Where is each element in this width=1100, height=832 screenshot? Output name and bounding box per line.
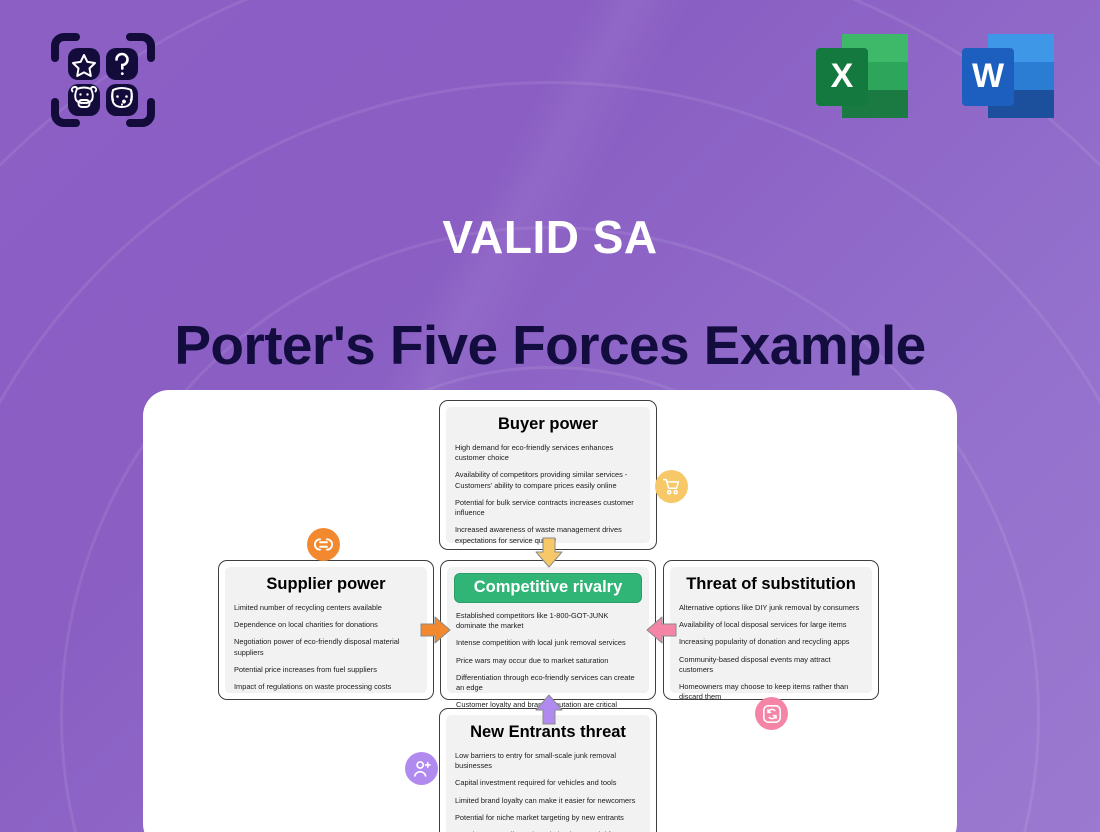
force-item: Intense competition with local junk remo… — [456, 638, 640, 648]
force-items-supplier: Limited number of recycling centers avai… — [234, 603, 418, 692]
force-item: Price wars may occur due to market satur… — [456, 656, 640, 666]
force-title-rivalry: Competitive rivalry — [454, 573, 642, 603]
badge-new-entrants[interactable] — [405, 752, 438, 785]
force-box-substitution[interactable]: Threat of substitution Alternative optio… — [663, 560, 879, 700]
arrow-new-entrants-to-rivalry — [533, 693, 565, 727]
force-item: Limited brand loyalty can make it easier… — [455, 796, 641, 806]
shopping-cart-icon — [662, 477, 681, 496]
force-item: Limited number of recycling centers avai… — [234, 603, 418, 613]
force-title-substitution: Threat of substitution — [679, 575, 863, 594]
svg-text:X: X — [831, 57, 854, 95]
badge-supplier[interactable] — [307, 528, 340, 561]
force-item: Alternative options like DIY junk remova… — [679, 603, 863, 613]
force-items-buyer: High demand for eco-friendly services en… — [455, 443, 641, 546]
arrow-substitution-to-rivalry — [645, 614, 679, 646]
add-person-icon — [412, 759, 432, 779]
force-item: Dependence on local charities for donati… — [234, 620, 418, 630]
force-item: Availability of local disposal services … — [679, 620, 863, 630]
force-item: Potential price increases from fuel supp… — [234, 665, 418, 675]
force-item: Established competitors like 1-800-GOT-J… — [456, 611, 640, 631]
force-items-substitution: Alternative options like DIY junk remova… — [679, 603, 863, 703]
force-item: Potential for niche market targeting by … — [455, 813, 641, 823]
badge-substitution[interactable] — [755, 697, 788, 730]
badge-buyer[interactable] — [655, 470, 688, 503]
slide-canvas: X W VALID SA Porter's Five Forces Exampl… — [0, 0, 1100, 832]
force-box-rivalry[interactable]: Competitive rivalry Established competit… — [440, 560, 656, 700]
svg-text:W: W — [972, 57, 1005, 95]
arrow-supplier-to-rivalry — [419, 614, 453, 646]
arrow-buyer-to-rivalry — [533, 536, 565, 570]
force-title-buyer: Buyer power — [455, 415, 641, 434]
force-item: Availability of competitors providing si… — [455, 470, 641, 490]
force-item: Potential for bulk service contracts inc… — [455, 498, 641, 518]
chain-link-icon — [314, 535, 333, 554]
brand-logo-svg — [46, 28, 160, 132]
force-item: Negotiation power of eco-friendly dispos… — [234, 637, 418, 657]
excel-icon[interactable]: X — [812, 30, 912, 124]
diagram-canvas: Buyer power High demand for eco-friendly… — [143, 390, 957, 832]
refresh-swap-icon — [762, 704, 782, 724]
force-item: Differentiation through eco-friendly ser… — [456, 673, 640, 693]
page-title: Porter's Five Forces Example — [0, 313, 1100, 377]
force-item: Increasing popularity of donation and re… — [679, 637, 863, 647]
office-app-icons: X W — [812, 30, 1058, 124]
brand-name: VALID SA — [0, 210, 1100, 264]
force-item: Impact of regulations on waste processin… — [234, 682, 418, 692]
force-item: Low barriers to entry for small-scale ju… — [455, 751, 641, 771]
diagram-card: Buyer power High demand for eco-friendly… — [143, 390, 957, 832]
force-box-supplier[interactable]: Supplier power Limited number of recycli… — [218, 560, 434, 700]
force-title-supplier: Supplier power — [234, 575, 418, 594]
force-item: Capital investment required for vehicles… — [455, 778, 641, 788]
word-icon[interactable]: W — [958, 30, 1058, 124]
force-items-new-entrants: Low barriers to entry for small-scale ju… — [455, 751, 641, 832]
force-box-buyer[interactable]: Buyer power High demand for eco-friendly… — [439, 400, 657, 550]
force-item: High demand for eco-friendly services en… — [455, 443, 641, 463]
brand-logo[interactable] — [46, 28, 160, 132]
force-item: Community-based disposal events may attr… — [679, 655, 863, 675]
